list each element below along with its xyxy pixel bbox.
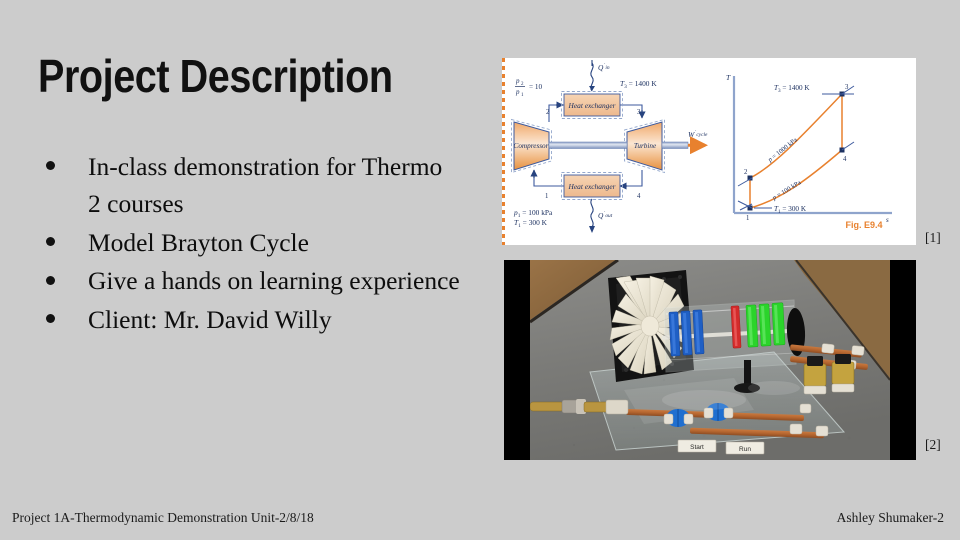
list-item: Model Brayton Cycle bbox=[40, 224, 460, 261]
citation-marker-1: [1] bbox=[925, 230, 941, 246]
citation-marker-2: [2] bbox=[925, 437, 941, 453]
turbine-label: Turbine bbox=[634, 142, 657, 150]
device-label-run: Run bbox=[726, 442, 764, 454]
footer-left-text: Project 1A-Thermodynamic Demonstration U… bbox=[12, 510, 314, 526]
svg-text:2: 2 bbox=[744, 169, 748, 176]
figure-demonstration-unit-photo: Start Run bbox=[504, 260, 916, 460]
svg-text:1: 1 bbox=[746, 215, 749, 222]
compressor-rotor-blue bbox=[669, 310, 704, 356]
footer-right-text: Ashley Shumaker-2 bbox=[837, 510, 944, 526]
bullet-list: In-class demonstration for Thermo 2 cour… bbox=[40, 148, 460, 339]
brayton-cycle-schematic: Heat exchanger Heat exchanger Compressor… bbox=[502, 58, 916, 245]
list-item-label: Model Brayton Cycle bbox=[88, 228, 309, 257]
state-point-4: 4 bbox=[637, 193, 641, 200]
bullet-dot-icon bbox=[46, 161, 55, 170]
list-item: Give a hands on learning experience bbox=[40, 262, 460, 299]
svg-text:= 10: = 10 bbox=[529, 83, 542, 91]
device-label-run-text: Run bbox=[739, 446, 751, 453]
svg-text:3: 3 bbox=[845, 84, 849, 91]
w-cycle-label: W˙cycle bbox=[688, 130, 708, 139]
svg-text:p: p bbox=[515, 88, 520, 96]
q-out-label: Q˙out bbox=[598, 211, 613, 220]
svg-text:4: 4 bbox=[843, 156, 847, 163]
compressor-label: Compressor bbox=[514, 142, 549, 150]
bullet-dot-icon bbox=[46, 276, 55, 285]
heat-exchanger-top-label: Heat exchanger bbox=[568, 101, 616, 110]
heat-exchanger-bottom-label: Heat exchanger bbox=[568, 182, 616, 191]
state-point-3: 3 bbox=[637, 109, 641, 116]
page-title: Project Description bbox=[38, 52, 393, 100]
list-item: Client: Mr. David Willy bbox=[40, 301, 460, 338]
turbine-rotor-green bbox=[746, 303, 785, 348]
state-point-2: 2 bbox=[546, 109, 550, 116]
bullet-dot-icon bbox=[46, 314, 55, 323]
device-label-start-text: Start bbox=[690, 444, 704, 451]
ts-x-axis-label: s bbox=[886, 216, 889, 224]
state-point-1: 1 bbox=[545, 193, 548, 200]
figure-dashed-edge bbox=[502, 58, 505, 245]
list-item-label: In-class demonstration for Thermo 2 cour… bbox=[88, 152, 442, 218]
list-item-label: Give a hands on learning experience bbox=[88, 266, 460, 295]
svg-text:p: p bbox=[515, 77, 520, 85]
list-item-label: Client: Mr. David Willy bbox=[88, 305, 332, 334]
list-item: In-class demonstration for Thermo 2 cour… bbox=[40, 148, 460, 223]
figure-brayton-cycle: Heat exchanger Heat exchanger Compressor… bbox=[502, 58, 916, 245]
device-label-start: Start bbox=[678, 440, 716, 452]
bullet-dot-icon bbox=[46, 237, 55, 246]
demonstration-unit-image: Start Run bbox=[504, 260, 916, 460]
figure-caption: Fig. E9.4 bbox=[845, 220, 882, 230]
